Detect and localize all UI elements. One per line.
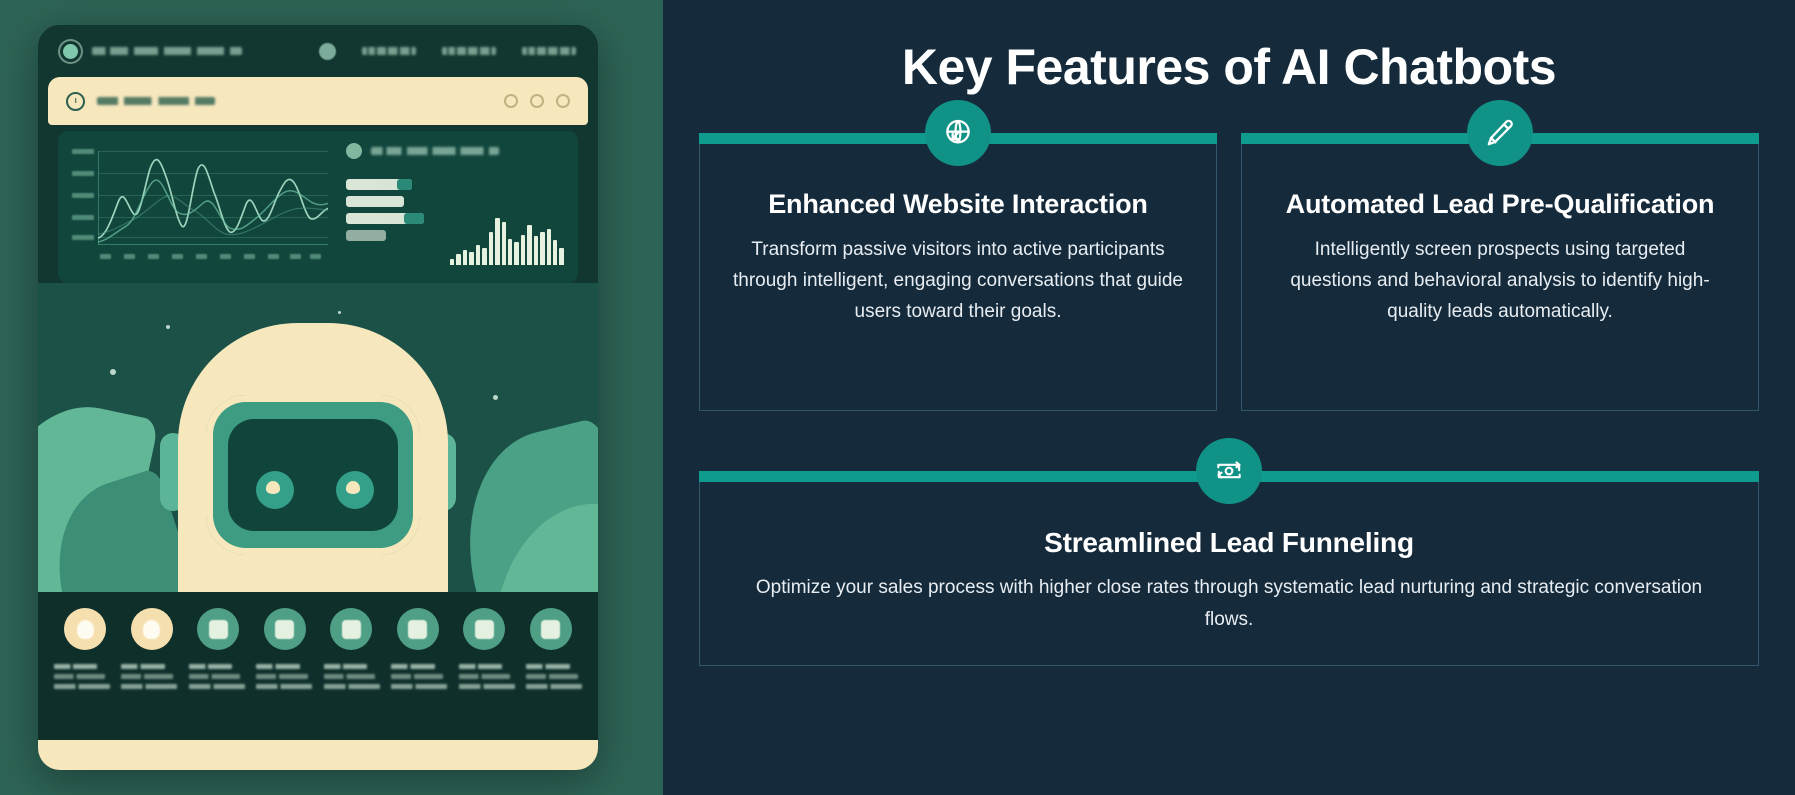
dock-icon-row: [38, 608, 598, 650]
dashboard-device-mockup: [38, 25, 598, 770]
panel-action-icon: [530, 94, 544, 108]
line-chart: [72, 143, 328, 271]
mini-bar-series: [450, 189, 564, 265]
panel-header-bar: [48, 77, 588, 125]
robot-screen: [228, 419, 398, 531]
device-footer-bar: [38, 740, 598, 770]
feature-card-wide-row: Streamlined Lead Funneling Optimize your…: [699, 471, 1759, 666]
analytics-panel: [58, 131, 578, 283]
feature-cards-row: Enhanced Website Interaction Transform p…: [699, 133, 1759, 411]
card-title: Streamlined Lead Funneling: [734, 527, 1724, 560]
dock-caption: [121, 664, 177, 694]
feature-card-streamlined-lead-funneling[interactable]: Streamlined Lead Funneling Optimize your…: [699, 471, 1759, 666]
panel-action-icon: [556, 94, 570, 108]
dock-caption: [391, 664, 447, 694]
content-panel: Key Features of AI Chatbots Enhanced Web…: [663, 0, 1795, 795]
card-title: Automated Lead Pre-Qualification: [1272, 189, 1728, 221]
dock-caption: [324, 664, 380, 694]
bar-panel-label-blurred: [371, 147, 499, 155]
line-chart-plot: [98, 149, 328, 244]
bar-panel-header: [346, 143, 499, 159]
chat-icon[interactable]: [330, 608, 372, 650]
robot-face-panel: [206, 395, 420, 555]
chart-icon[interactable]: [264, 608, 306, 650]
progress-bar: [346, 230, 386, 241]
dock-caption: [459, 664, 515, 694]
dock-caption: [189, 664, 245, 694]
star-dot: [493, 395, 498, 400]
card-title: Enhanced Website Interaction: [730, 189, 1186, 221]
robot-mascot: [178, 323, 448, 623]
panel-dot-icon: [346, 143, 362, 159]
robot-eye-left: [256, 471, 294, 509]
dock-caption-row: [38, 650, 598, 694]
dock-caption: [526, 664, 582, 694]
nav-menu-item-blurred: [522, 47, 576, 55]
feature-card-enhanced-website-interaction[interactable]: Enhanced Website Interaction Transform p…: [699, 133, 1217, 411]
progress-bar: [346, 179, 412, 190]
person-cream-icon[interactable]: [131, 608, 173, 650]
card-description: Optimize your sales process with higher …: [734, 572, 1724, 637]
bar-chart-panel: [346, 143, 564, 271]
panel-action-icon: [504, 94, 518, 108]
progress-bar: [346, 196, 404, 207]
contact-icon[interactable]: [530, 608, 572, 650]
cloud-icon[interactable]: [397, 608, 439, 650]
money-flow-icon: [1196, 438, 1262, 504]
star-dot: [166, 325, 170, 329]
nav-menu-item-blurred: [362, 47, 416, 55]
user-avatar: [319, 43, 336, 60]
feature-card-automated-lead-pre-qualification[interactable]: Automated Lead Pre-Qualification Intelli…: [1241, 133, 1759, 411]
globe-arrow-icon: [925, 100, 991, 166]
robot-scene: [38, 283, 598, 623]
nav-menu-item-blurred: [442, 47, 496, 55]
card-description: Transform passive visitors into active p…: [730, 235, 1186, 328]
brand-text-blurred: [92, 47, 242, 55]
card-description: Intelligently screen prospects using tar…: [1272, 235, 1728, 328]
feature-icon-dock: [38, 592, 598, 740]
progress-bar: [346, 213, 424, 224]
star-dot: [338, 311, 341, 314]
illustration-panel: [0, 0, 663, 795]
person-cream-icon[interactable]: [64, 608, 106, 650]
panel-header-label-blurred: [97, 97, 215, 105]
star-dot: [110, 369, 116, 375]
document-icon[interactable]: [463, 608, 505, 650]
rocket-icon[interactable]: [197, 608, 239, 650]
dock-caption: [54, 664, 110, 694]
slide-root: Key Features of AI Chatbots Enhanced Web…: [0, 0, 1795, 795]
pencil-edit-icon: [1467, 100, 1533, 166]
page-title: Key Features of AI Chatbots: [699, 40, 1759, 95]
robot-eye-right: [336, 471, 374, 509]
dock-caption: [256, 664, 312, 694]
device-navbar: [38, 25, 598, 77]
clock-icon: [66, 92, 85, 111]
app-logo-dot-icon: [60, 41, 81, 62]
